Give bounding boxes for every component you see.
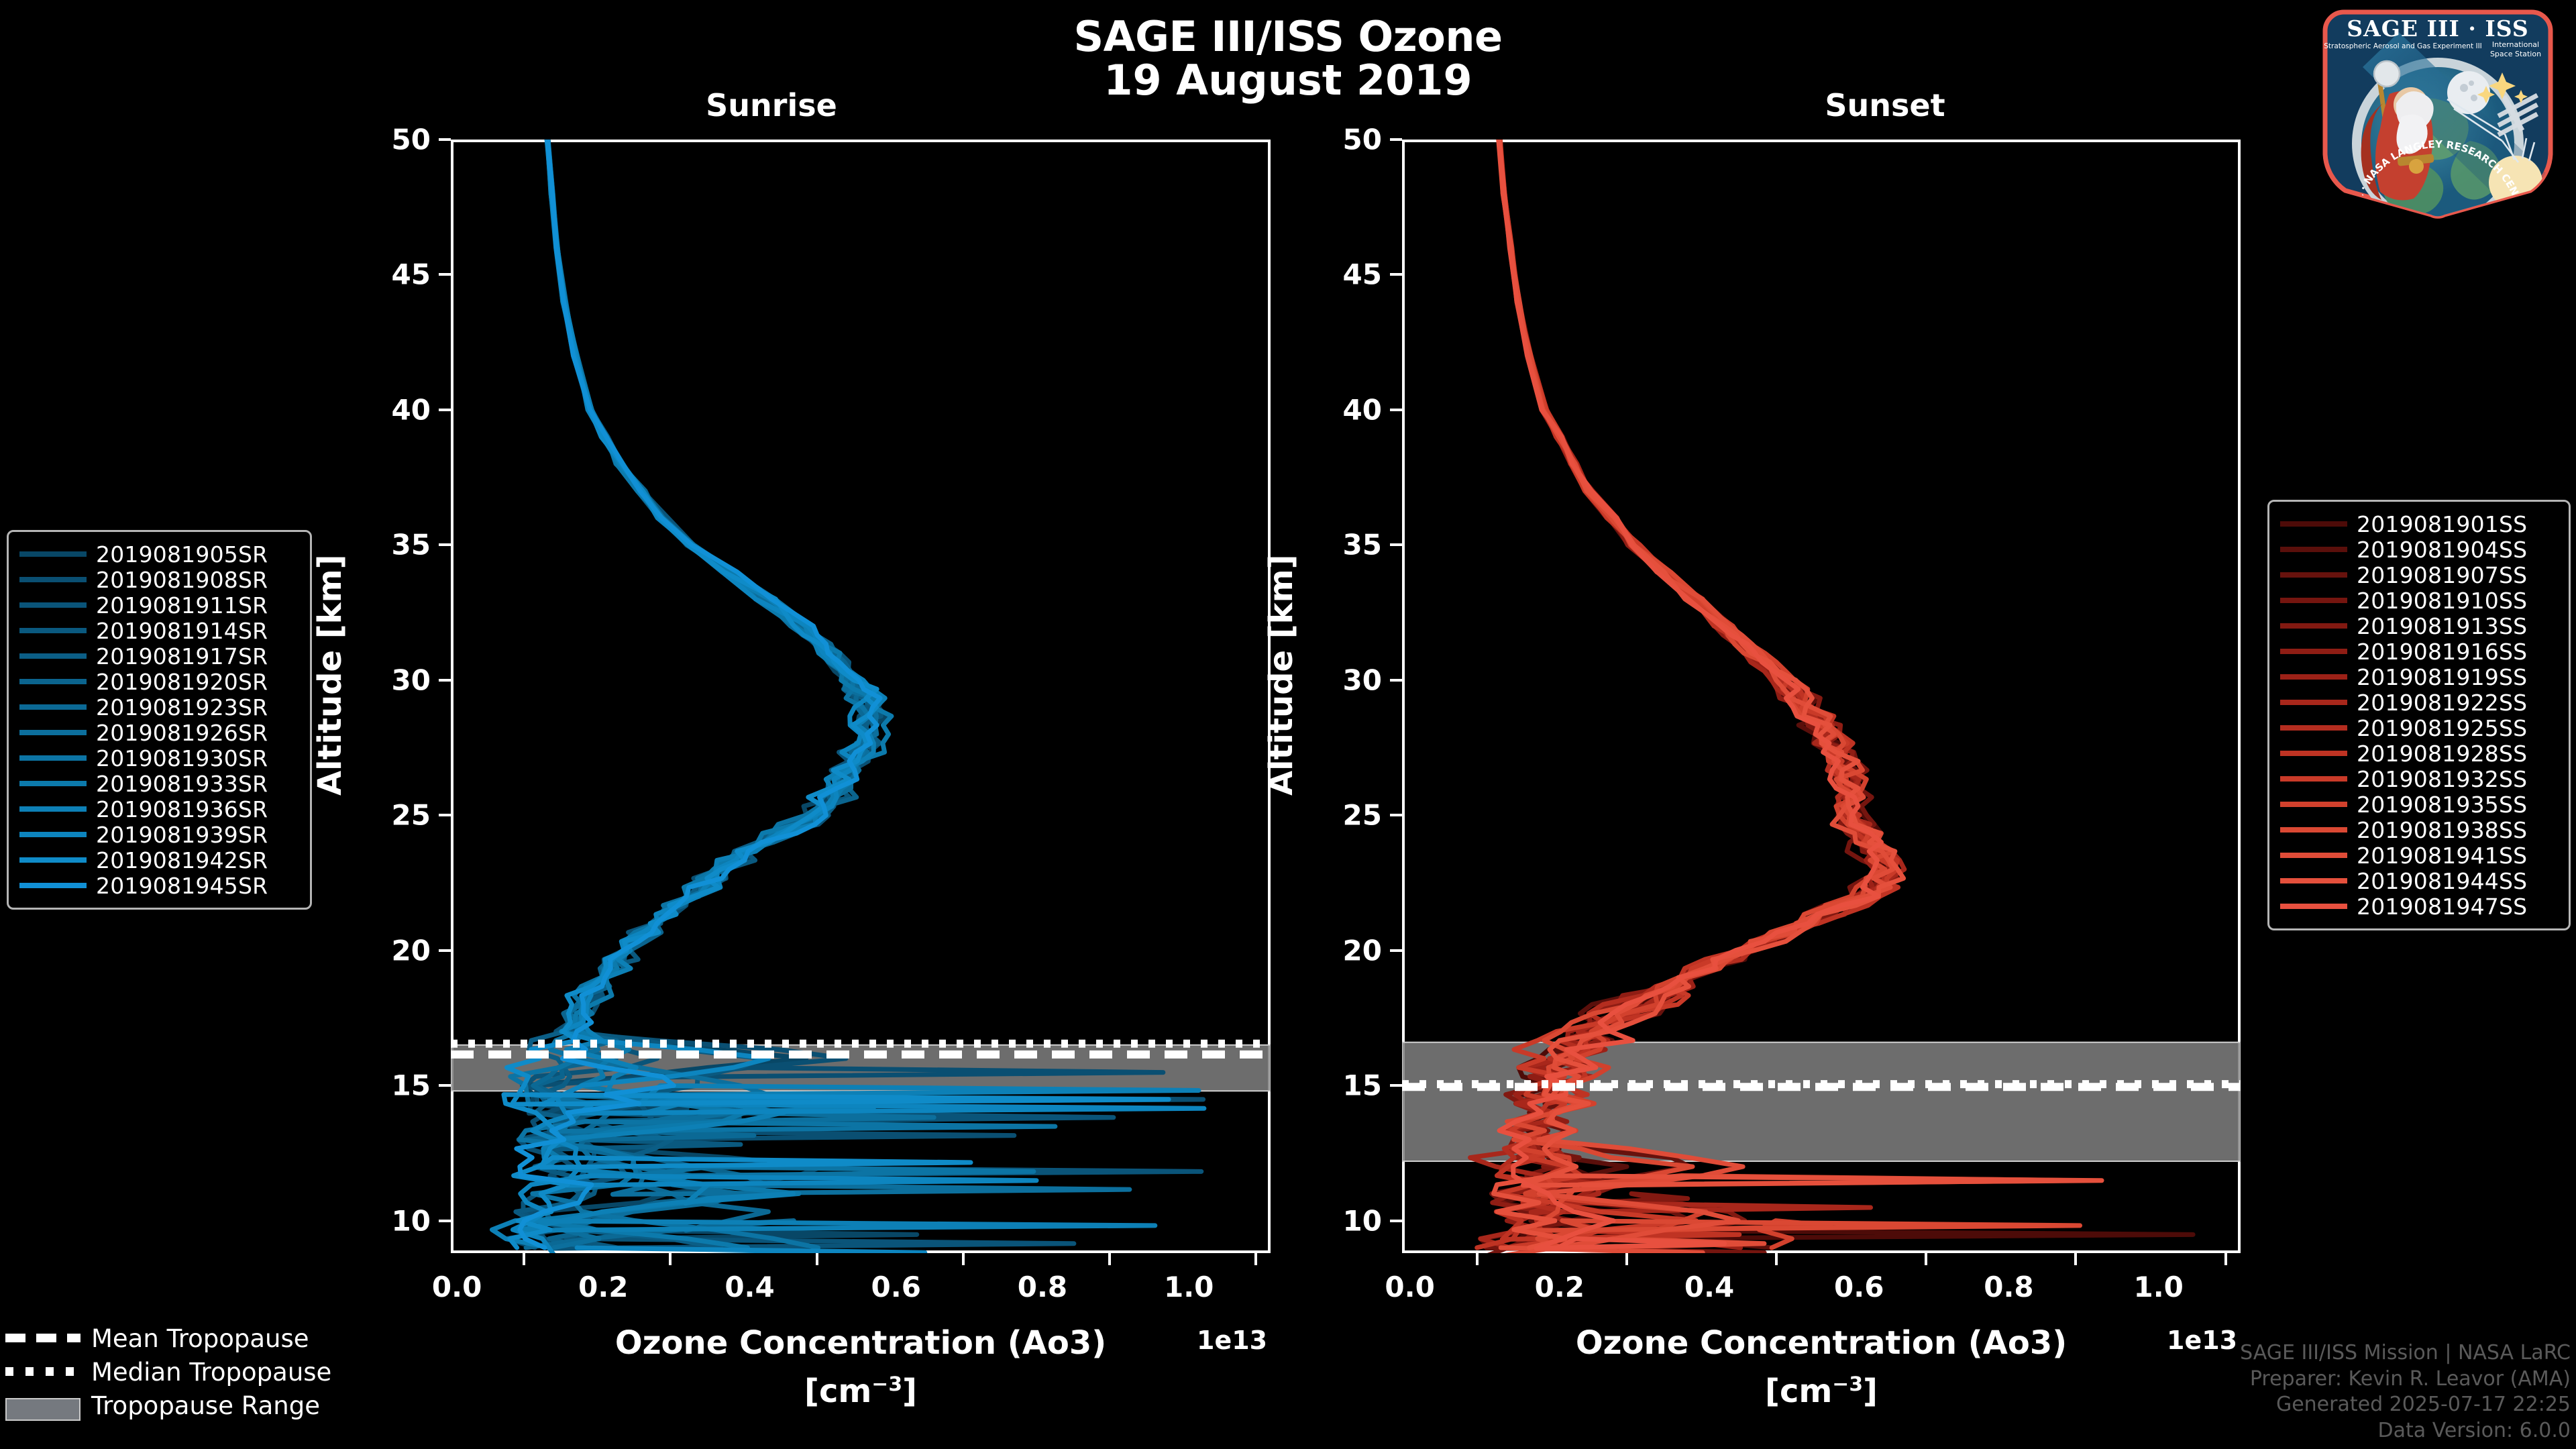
y-tick-mark	[1390, 949, 1402, 952]
y-tick-mark	[439, 138, 451, 141]
x-tick-mark	[962, 1253, 965, 1265]
legend-label-median-tropopause: Median Tropopause	[91, 1358, 331, 1387]
legend-row[interactable]: 2019081919SS	[2280, 664, 2558, 690]
tropopause-legend: Mean Tropopause Median Tropopause Tropop…	[5, 1322, 331, 1422]
legend-row[interactable]: 2019081942SR	[19, 847, 299, 873]
legend-color-swatch	[19, 577, 87, 582]
legend-row[interactable]: 2019081930SR	[19, 745, 299, 771]
legend-color-swatch	[19, 704, 87, 710]
legend-color-swatch	[2280, 853, 2347, 858]
x-tick-label: 0.0	[1343, 1271, 1477, 1303]
legend-row[interactable]: 2019081907SS	[2280, 562, 2558, 588]
mission-patch-icon: SAGE III · ISS Stratospheric Aerosol and…	[2304, 3, 2572, 220]
y-tick-mark	[1390, 1084, 1402, 1087]
legend-row[interactable]: 2019081908SR	[19, 567, 299, 592]
legend-color-swatch	[19, 730, 87, 735]
x-tick-label: 1.0	[2092, 1271, 2226, 1303]
legend-row[interactable]: 2019081916SS	[2280, 639, 2558, 664]
page-title: SAGE III/ISS Ozone	[792, 15, 1784, 58]
y-tick-mark	[439, 1220, 451, 1222]
y-tick-label: 15	[1281, 1069, 1382, 1102]
y-axis-title: Altitude [km]	[311, 594, 349, 796]
legend-label: 2019081920SR	[96, 669, 268, 695]
logo-title-text: SAGE III · ISS	[2347, 15, 2528, 42]
x-tick-label: 1.0	[1122, 1271, 1256, 1303]
legend-label: 2019081930SR	[96, 745, 268, 771]
legend-label-tropopause-range: Tropopause Range	[91, 1391, 320, 1420]
legend-row[interactable]: 2019081914SR	[19, 618, 299, 643]
legend-label: 2019081928SS	[2357, 741, 2527, 767]
legend-row[interactable]: 2019081932SS	[2280, 766, 2558, 792]
legend-row[interactable]: 2019081941SS	[2280, 843, 2558, 868]
legend-label: 2019081923SR	[96, 694, 268, 720]
sunrise-panel-title: Sunrise	[604, 87, 939, 123]
legend-row[interactable]: 2019081933SR	[19, 771, 299, 796]
legend-label: 2019081938SS	[2357, 817, 2527, 843]
legend-color-swatch	[19, 602, 87, 608]
legend-label: 2019081941SS	[2357, 843, 2527, 869]
x-tick-mark	[1476, 1253, 1479, 1265]
x-tick-label: 0.6	[829, 1271, 963, 1303]
x-tick-mark	[1625, 1253, 1628, 1265]
legend-color-swatch	[2280, 623, 2347, 629]
x-tick-mark	[1254, 1253, 1257, 1265]
legend-row[interactable]: 2019081905SR	[19, 541, 299, 567]
legend-color-swatch	[2280, 547, 2347, 552]
legend-color-swatch	[19, 832, 87, 837]
legend-row[interactable]: 2019081920SR	[19, 669, 299, 694]
legend-row[interactable]: 2019081910SS	[2280, 588, 2558, 613]
filled-band-icon	[5, 1398, 80, 1413]
sunset-panel-title: Sunset	[1717, 87, 2053, 123]
legend-label: 2019081908SR	[96, 567, 268, 593]
title-block: SAGE III/ISS Ozone 19 August 2019	[792, 15, 1784, 102]
x-axis-title: Ozone Concentration (Ao3)	[451, 1324, 1271, 1362]
credits-line-version: Data Version: 6.0.0	[2240, 1418, 2571, 1444]
y-tick-mark	[1390, 409, 1402, 411]
legend-label: 2019081925SS	[2357, 715, 2527, 741]
legend-label: 2019081947SS	[2357, 894, 2527, 920]
y-tick-mark	[439, 814, 451, 816]
legend-row-tropopause-range: Tropopause Range	[5, 1389, 331, 1422]
legend-row[interactable]: 2019081922SS	[2280, 690, 2558, 715]
legend-row[interactable]: 2019081935SS	[2280, 792, 2558, 817]
legend-label: 2019081919SS	[2357, 664, 2527, 690]
x-tick-mark	[669, 1253, 672, 1265]
y-tick-label: 20	[1281, 934, 1382, 967]
y-tick-label: 10	[1281, 1204, 1382, 1237]
x-tick-label: 0.0	[390, 1271, 524, 1303]
logo-subtitle-right-2: Space Station	[2490, 50, 2541, 58]
legend-label: 2019081935SS	[2357, 792, 2527, 818]
x-tick-label: 0.8	[1941, 1271, 2076, 1303]
legend-row[interactable]: 2019081901SS	[2280, 511, 2558, 537]
page-subtitle: 19 August 2019	[792, 58, 1784, 102]
y-tick-label: 40	[1281, 393, 1382, 426]
legend-row[interactable]: 2019081917SR	[19, 643, 299, 669]
x-axis-units: [cm−3]	[451, 1373, 1271, 1410]
y-tick-mark	[1390, 814, 1402, 816]
legend-row[interactable]: 2019081913SS	[2280, 613, 2558, 639]
y-tick-label: 25	[1281, 799, 1382, 832]
legend-color-swatch	[2280, 521, 2347, 527]
legend-color-swatch	[2280, 725, 2347, 731]
legend-row[interactable]: 2019081904SS	[2280, 537, 2558, 562]
legend-label: 2019081911SR	[96, 592, 268, 619]
legend-label: 2019081914SR	[96, 618, 268, 644]
legend-label: 2019081942SR	[96, 847, 268, 873]
legend-label: 2019081939SR	[96, 822, 268, 848]
x-tick-label: 0.6	[1792, 1271, 1926, 1303]
x-axis-title: Ozone Concentration (Ao3)	[1402, 1324, 2241, 1362]
legend-label: 2019081944SS	[2357, 868, 2527, 894]
legend-label-mean-tropopause: Mean Tropopause	[91, 1324, 309, 1353]
sunset-plot-canvas	[1402, 140, 2241, 1253]
legend-row-mean-tropopause: Mean Tropopause	[5, 1322, 331, 1355]
legend-row[interactable]: 2019081945SR	[19, 873, 299, 898]
y-axis-title: Altitude [km]	[1263, 594, 1300, 796]
legend-color-swatch	[19, 679, 87, 684]
legend-color-swatch	[19, 551, 87, 557]
legend-label: 2019081901SS	[2357, 511, 2527, 537]
legend-label: 2019081936SR	[96, 796, 268, 822]
legend-color-swatch	[2280, 751, 2347, 756]
y-tick-label: 50	[330, 123, 431, 156]
y-tick-label: 10	[330, 1204, 431, 1237]
credits-line-mission: SAGE III/ISS Mission | NASA LaRC	[2240, 1340, 2571, 1366]
x-tick-label: 0.4	[1642, 1271, 1776, 1303]
y-tick-mark	[1390, 273, 1402, 276]
y-tick-mark	[439, 1084, 451, 1087]
x-tick-mark	[523, 1253, 525, 1265]
legend-color-swatch	[2280, 802, 2347, 807]
legend-color-swatch	[2280, 700, 2347, 705]
legend-row[interactable]: 2019081923SR	[19, 694, 299, 720]
legend-color-swatch	[2280, 598, 2347, 603]
legend-color-swatch	[19, 781, 87, 786]
legend-color-swatch	[2280, 878, 2347, 883]
legend-row[interactable]: 2019081944SS	[2280, 868, 2558, 894]
x-tick-mark	[1925, 1253, 1927, 1265]
x-tick-label: 0.4	[683, 1271, 817, 1303]
y-tick-mark	[439, 409, 451, 411]
x-tick-label: 0.2	[1493, 1271, 1627, 1303]
x-tick-mark	[2224, 1253, 2227, 1265]
sunset-legend: 2019081901SS2019081904SS2019081907SS2019…	[2267, 500, 2571, 930]
legend-color-swatch	[19, 883, 87, 888]
legend-label: 2019081910SS	[2357, 588, 2527, 614]
x-axis-exponent-label: 1e13	[2167, 1326, 2237, 1355]
dotted-line-icon	[5, 1364, 80, 1379]
legend-color-swatch	[19, 653, 87, 659]
credits-block: SAGE III/ISS Mission | NASA LaRC Prepare…	[2240, 1340, 2571, 1444]
credits-line-generated: Generated 2025-07-17 22:25	[2240, 1392, 2571, 1417]
y-tick-mark	[1390, 1220, 1402, 1222]
legend-row-median-tropopause: Median Tropopause	[5, 1355, 331, 1389]
legend-label: 2019081933SR	[96, 771, 268, 797]
legend-label: 2019081926SR	[96, 720, 268, 746]
legend-label: 2019081916SS	[2357, 639, 2527, 665]
legend-color-swatch	[2280, 776, 2347, 782]
y-tick-label: 15	[330, 1069, 431, 1102]
x-axis-exponent-label: 1e13	[1197, 1326, 1267, 1355]
legend-label: 2019081904SS	[2357, 537, 2527, 563]
legend-label: 2019081917SR	[96, 643, 268, 669]
legend-color-swatch	[19, 857, 87, 863]
y-tick-mark	[439, 273, 451, 276]
legend-color-swatch	[19, 628, 87, 633]
y-tick-mark	[439, 679, 451, 682]
y-tick-label: 40	[330, 393, 431, 426]
legend-row[interactable]: 2019081939SR	[19, 822, 299, 847]
y-tick-mark	[439, 543, 451, 546]
sage3-iss-mission-patch-logo: SAGE III · ISS Stratospheric Aerosol and…	[2304, 3, 2572, 220]
legend-row[interactable]: 2019081911SR	[19, 592, 299, 618]
y-tick-label: 45	[330, 258, 431, 291]
y-tick-mark	[1390, 543, 1402, 546]
logo-subtitle-left: Stratospheric Aerosol and Gas Experiment…	[2324, 42, 2482, 50]
y-tick-mark	[439, 949, 451, 952]
legend-color-swatch	[2280, 904, 2347, 909]
legend-color-swatch	[2280, 649, 2347, 654]
x-tick-mark	[816, 1253, 818, 1265]
sunrise-legend: 2019081905SR2019081908SR2019081911SR2019…	[7, 530, 312, 910]
x-tick-label: 0.8	[975, 1271, 1110, 1303]
sunrise-plot-canvas	[451, 140, 1271, 1253]
y-tick-label: 20	[330, 934, 431, 967]
credits-line-preparer: Preparer: Kevin R. Leavor (AMA)	[2240, 1366, 2571, 1392]
y-tick-mark	[1390, 679, 1402, 682]
y-tick-mark	[1390, 138, 1402, 141]
y-tick-label: 45	[1281, 258, 1382, 291]
legend-row[interactable]: 2019081928SS	[2280, 741, 2558, 766]
legend-color-swatch	[2280, 827, 2347, 833]
legend-row[interactable]: 2019081938SS	[2280, 817, 2558, 843]
legend-label: 2019081932SS	[2357, 766, 2527, 792]
legend-label: 2019081905SR	[96, 541, 268, 568]
legend-label: 2019081913SS	[2357, 613, 2527, 639]
legend-row[interactable]: 2019081926SR	[19, 720, 299, 745]
legend-label: 2019081945SR	[96, 873, 268, 899]
x-tick-mark	[1775, 1253, 1778, 1265]
x-tick-mark	[1108, 1253, 1111, 1265]
legend-color-swatch	[2280, 572, 2347, 578]
x-tick-mark	[2074, 1253, 2077, 1265]
y-tick-label: 50	[1281, 123, 1382, 156]
legend-label: 2019081907SS	[2357, 562, 2527, 588]
legend-row[interactable]: 2019081947SS	[2280, 894, 2558, 919]
legend-color-swatch	[2280, 674, 2347, 680]
legend-color-swatch	[19, 806, 87, 812]
dashed-line-icon	[5, 1331, 80, 1346]
logo-subtitle-right-1: International	[2492, 40, 2539, 49]
legend-color-swatch	[19, 755, 87, 761]
legend-label: 2019081922SS	[2357, 690, 2527, 716]
x-tick-label: 0.2	[536, 1271, 670, 1303]
y-tick-label: 25	[330, 799, 431, 832]
legend-row[interactable]: 2019081925SS	[2280, 715, 2558, 741]
x-axis-units: [cm−3]	[1402, 1373, 2241, 1410]
legend-row[interactable]: 2019081936SR	[19, 796, 299, 822]
